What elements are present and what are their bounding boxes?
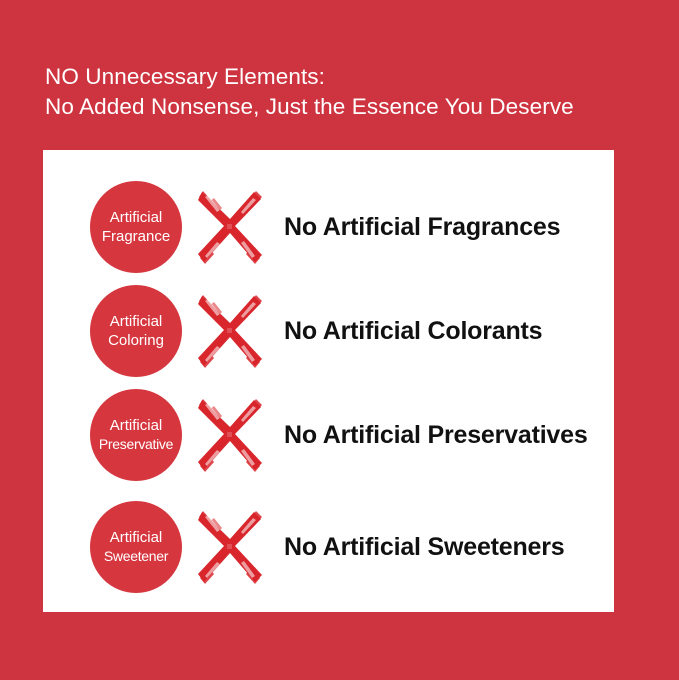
- list-item: Artificial Fragrance: [43, 175, 614, 279]
- badge-line-2: Sweetener: [104, 547, 168, 567]
- x-cross-icon: [194, 508, 266, 586]
- badge-line-1: Artificial: [110, 528, 163, 548]
- claim-label: No Artificial Fragrances: [284, 213, 614, 242]
- badge-artificial-fragrance: Artificial Fragrance: [90, 181, 182, 273]
- x-cross-icon: [194, 292, 266, 370]
- badge-artificial-sweetener: Artificial Sweetener: [90, 501, 182, 593]
- badge-line-2: Fragrance: [102, 227, 170, 247]
- claims-list: Artificial Fragrance: [43, 150, 614, 612]
- claim-label: No Artificial Sweeteners: [284, 533, 614, 562]
- x-cross-icon: [194, 188, 266, 266]
- poster-heading: NO Unnecessary Elements: No Added Nonsen…: [45, 62, 645, 122]
- list-item: Artificial Sweetener: [43, 495, 614, 599]
- heading-line-2: No Added Nonsense, Just the Essence You …: [45, 92, 645, 122]
- heading-line-1: NO Unnecessary Elements:: [45, 62, 645, 92]
- badge-line-1: Artificial: [110, 208, 163, 228]
- badge-line-2: Preservative: [99, 435, 173, 455]
- badge-line-2: Coloring: [108, 331, 164, 351]
- claim-label: No Artificial Colorants: [284, 317, 614, 346]
- x-cross-icon: [194, 396, 266, 474]
- badge-artificial-preservative: Artificial Preservative: [90, 389, 182, 481]
- badge-artificial-coloring: Artificial Coloring: [90, 285, 182, 377]
- poster-root: NO Unnecessary Elements: No Added Nonsen…: [0, 0, 679, 680]
- badge-line-1: Artificial: [110, 416, 163, 436]
- claim-label: No Artificial Preservatives: [284, 421, 614, 450]
- claims-card: Artificial Fragrance: [43, 150, 614, 612]
- list-item: Artificial Coloring: [43, 279, 614, 383]
- badge-line-1: Artificial: [110, 312, 163, 332]
- list-item: Artificial Preservative: [43, 383, 614, 487]
